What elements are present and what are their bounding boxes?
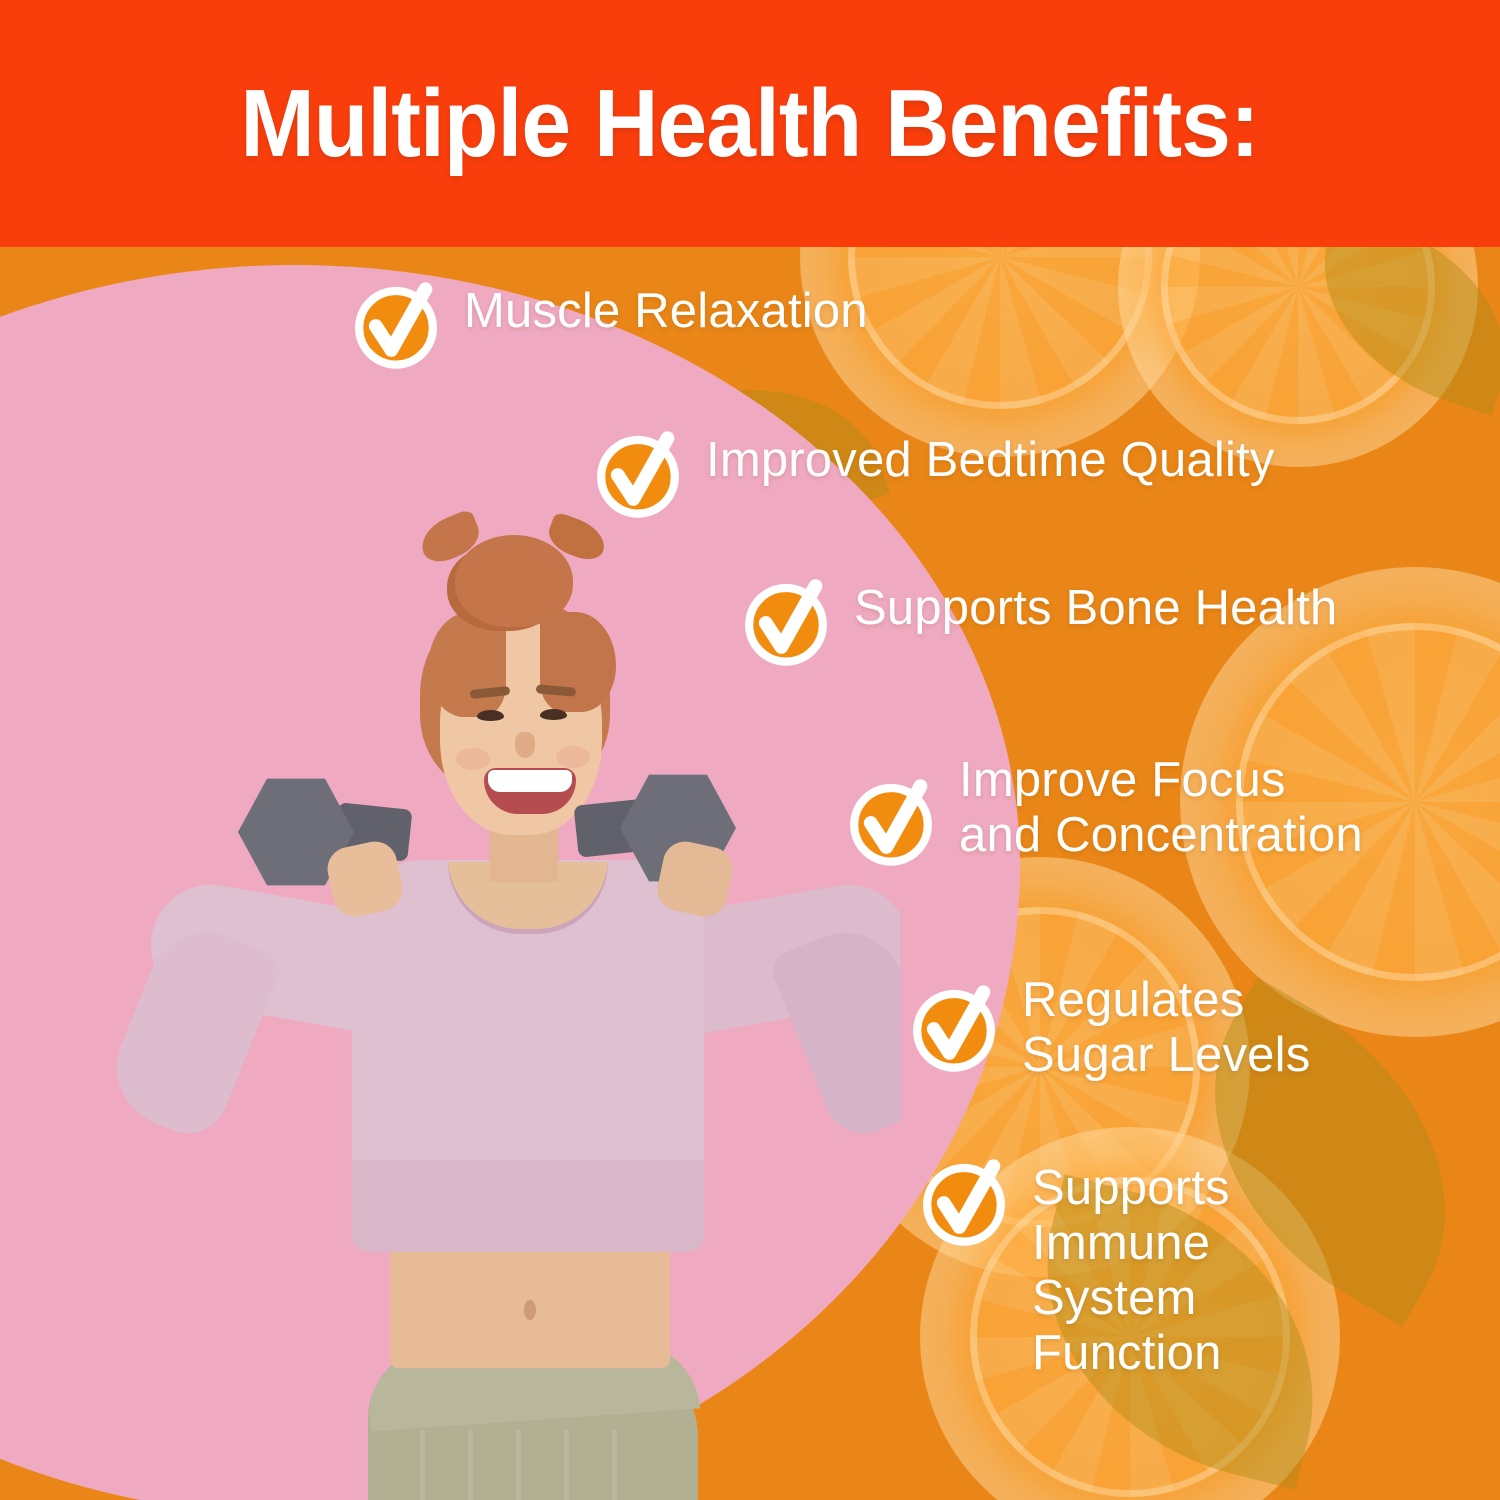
legging-rib	[468, 1430, 473, 1500]
cheek-left	[456, 748, 490, 770]
smiling-mouth	[484, 768, 576, 814]
benefit-label: Supports Immune System Function	[1032, 1157, 1230, 1381]
benefit-item-bedtime-quality[interactable]: Improved Bedtime Quality	[592, 429, 1275, 521]
benefit-label: Improved Bedtime Quality	[706, 429, 1275, 488]
hair-fringe-left	[428, 612, 506, 717]
benefit-item-immune-system[interactable]: Supports Immune System Function	[918, 1157, 1230, 1381]
health-benefits-poster: Muscle Relaxation Improved Bedtime Quali…	[0, 0, 1500, 1500]
legging-rib	[420, 1430, 425, 1500]
check-circle-icon	[845, 777, 937, 869]
check-circle-icon	[350, 280, 442, 372]
benefit-item-muscle-relaxation[interactable]: Muscle Relaxation	[350, 280, 868, 372]
benefit-label: Muscle Relaxation	[464, 280, 868, 339]
check-circle-icon	[918, 1157, 1010, 1249]
legging-rib	[516, 1430, 521, 1500]
cheek-right	[556, 746, 590, 768]
legging-rib	[564, 1430, 569, 1500]
benefit-item-focus-concentration[interactable]: Improve Focus and Concentration	[845, 749, 1363, 869]
benefit-label: Improve Focus and Concentration	[959, 749, 1363, 863]
crop-top-band	[352, 1160, 704, 1252]
left-forearm	[99, 915, 285, 1145]
header-banner: Multiple Health Benefits:	[0, 0, 1500, 247]
check-circle-icon	[908, 983, 1000, 1075]
check-circle-icon	[592, 429, 684, 521]
page-title: Multiple Health Benefits:	[241, 69, 1259, 179]
eye-right	[540, 709, 567, 720]
benefit-label: Supports Bone Health	[854, 577, 1337, 636]
benefit-item-bone-health[interactable]: Supports Bone Health	[740, 577, 1337, 669]
legging-rib	[612, 1430, 617, 1500]
leaf-decor	[1292, 247, 1500, 416]
navel	[524, 1300, 536, 1320]
teeth	[488, 770, 572, 792]
benefit-item-sugar-levels[interactable]: Regulates Sugar Levels	[908, 969, 1310, 1083]
nose	[515, 732, 535, 758]
benefit-label: Regulates Sugar Levels	[1022, 969, 1310, 1083]
hair-bun	[455, 535, 573, 627]
check-circle-icon	[740, 577, 832, 669]
eye-left	[477, 710, 504, 721]
hair-fringe-right	[540, 612, 616, 712]
